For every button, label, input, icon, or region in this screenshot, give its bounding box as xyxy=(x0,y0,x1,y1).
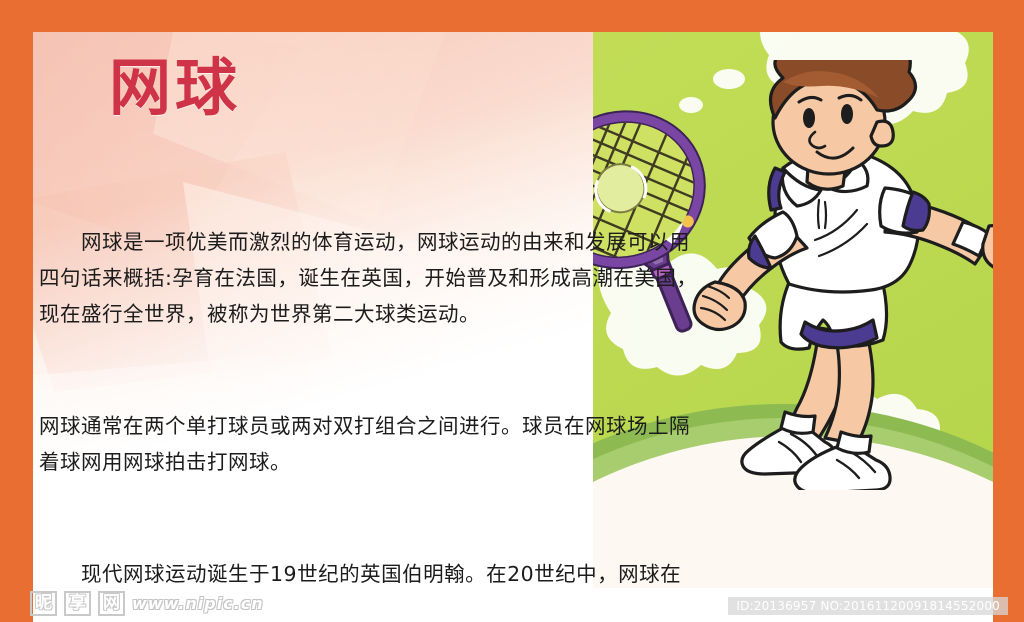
hand-left xyxy=(694,282,745,330)
ear xyxy=(871,121,893,146)
nipic-logo: 昵 享 网 www.nipic.cn xyxy=(30,591,264,616)
page-title: 网球 xyxy=(109,57,241,119)
sock-back xyxy=(781,412,815,433)
watermark-url: www.nipic.cn xyxy=(132,594,264,613)
body-copy: 网球是一项优美而激烈的体育运动，网球运动的由来和发展可以用四句话来概括:孕育在法… xyxy=(39,152,699,588)
eye-right xyxy=(841,104,853,124)
eye-left xyxy=(803,108,815,128)
logo-char-2: 享 xyxy=(64,591,91,616)
paragraph-3: 现代网球运动诞生于19世纪的英国伯明翰。在20世纪中，网球在世界各地得到广泛发展… xyxy=(39,556,699,588)
logo-char-3: 网 xyxy=(98,591,125,616)
poster-artboard: 网球 网球是一项优美而激烈的体育运动，网球运动的由来和发展可以用四句话来概括:孕… xyxy=(33,32,993,588)
paragraph-2: 网球通常在两个单打球员或两对双打组合之间进行。球员在网球场上隔着球网用网球拍击打… xyxy=(39,408,699,480)
sock-front xyxy=(837,432,871,453)
watermark-strip: 昵 享 网 www.nipic.cn ID:20136957 NO:201611… xyxy=(0,588,1024,622)
poster-canvas: 网球 网球是一项优美而激烈的体育运动，网球运动的由来和发展可以用四句话来概括:孕… xyxy=(0,0,1024,622)
watermark-id: ID:20136957 NO:20161120091814552000 xyxy=(728,597,1008,615)
logo-char-1: 昵 xyxy=(30,591,57,616)
paragraph-1: 网球是一项优美而激烈的体育运动，网球运动的由来和发展可以用四句话来概括:孕育在法… xyxy=(39,224,699,332)
